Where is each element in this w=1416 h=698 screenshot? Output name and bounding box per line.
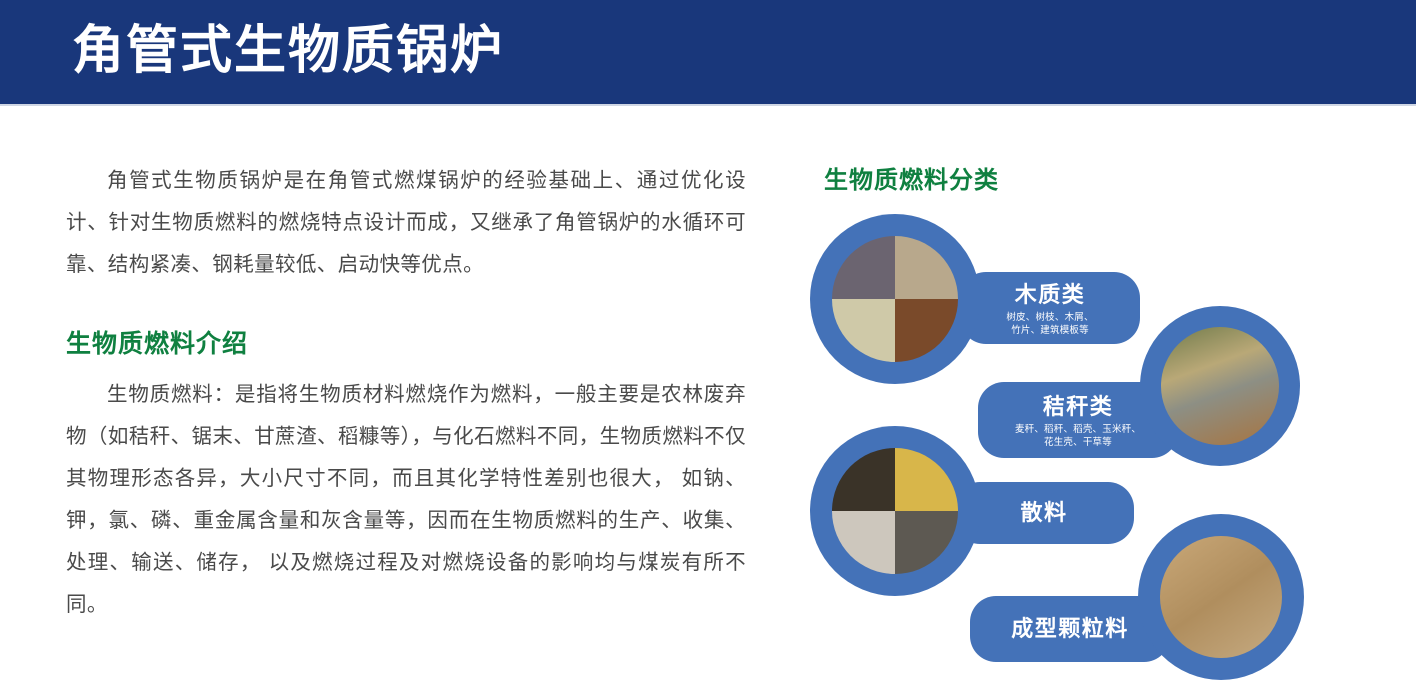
fuel-intro-paragraph: 生物质燃料：是指将生物质材料燃烧作为燃料，一般主要是农林废弃物（如秸秆、锯末、甘… [66, 374, 746, 626]
category-label-wood[interactable]: 木质类 树皮、树枝、木屑、竹片、建筑模板等 [960, 272, 1140, 344]
bulk-material-photo [832, 448, 958, 574]
diagram-heading: 生物质燃料分类 [824, 160, 1364, 195]
category-subtitle: 麦秆、稻秆、稻壳、玉米秆、花生壳、干草等 [1015, 423, 1141, 449]
fuel-classification-diagram: 木质类 树皮、树枝、木屑、竹片、建筑模板等 秸秆类 麦秆、稻秆、稻壳、玉米秆、花… [810, 214, 1320, 698]
category-circle-bulk[interactable] [810, 426, 980, 596]
category-circle-pellet[interactable] [1138, 514, 1304, 680]
slide-page: 角管式生物质锅炉 角管式生物质锅炉是在角管式燃煤锅炉的经验基础上、通过优化设计、… [0, 0, 1416, 698]
header-banner: 角管式生物质锅炉 [0, 0, 1416, 106]
section-heading-fuel-intro: 生物质燃料介绍 [66, 324, 746, 360]
category-circle-wood[interactable] [810, 214, 980, 384]
category-title: 成型颗粒料 [1011, 614, 1129, 644]
wood-pellets-photo [1160, 536, 1283, 659]
right-diagram-column: 生物质燃料分类 木质类 树皮、树枝、木屑、竹片、建筑模板等 秸秆类 麦秆、稻秆、… [824, 160, 1364, 680]
category-subtitle: 树皮、树枝、木屑、竹片、建筑模板等 [1006, 311, 1093, 337]
left-text-column: 角管式生物质锅炉是在角管式燃煤锅炉的经验基础上、通过优化设计、针对生物质燃料的燃… [66, 160, 746, 626]
category-title: 散料 [1020, 498, 1067, 528]
intro-paragraph: 角管式生物质锅炉是在角管式燃煤锅炉的经验基础上、通过优化设计、针对生物质燃料的燃… [66, 160, 746, 286]
page-title: 角管式生物质锅炉 [72, 12, 504, 90]
wood-materials-photo [832, 236, 958, 362]
category-title: 木质类 [1015, 280, 1086, 310]
category-label-bulk[interactable]: 散料 [954, 482, 1134, 544]
category-circle-straw[interactable] [1140, 306, 1300, 466]
category-title: 秸秆类 [1043, 392, 1114, 422]
straw-bale-photo [1161, 327, 1279, 445]
